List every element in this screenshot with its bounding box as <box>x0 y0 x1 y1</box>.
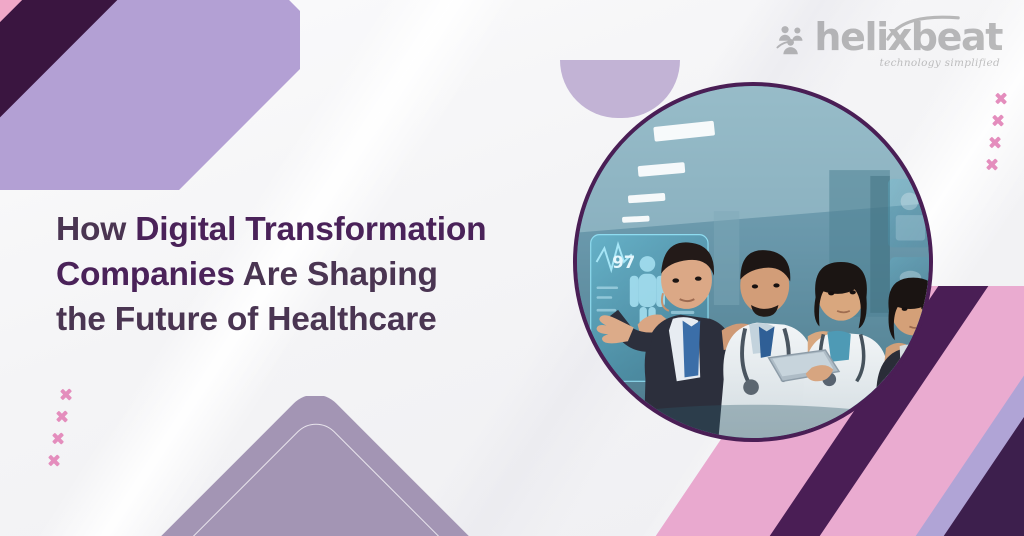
x-accent-icon <box>992 114 1005 127</box>
page-title: How Digital Transformation Companies Are… <box>56 208 576 342</box>
x-accent-icon <box>995 92 1008 105</box>
people-group-icon <box>774 22 808 56</box>
x-accent-icon <box>52 432 65 445</box>
headline-normal-1: How <box>56 211 135 248</box>
x-accent-group-left <box>52 388 73 476</box>
headline-line-1: How Digital Transformation <box>56 208 576 253</box>
healthcare-team-illustration: 97 <box>577 86 929 438</box>
brand-logo[interactable]: helixbeat technology simplified <box>774 18 1002 69</box>
headline-line-2: Companies Are Shaping <box>56 253 576 298</box>
x-accent-icon <box>989 136 1002 149</box>
hero-photo: 97 <box>577 86 929 438</box>
x-accent-icon <box>56 410 69 423</box>
banner: helixbeat technology simplified How Digi… <box>0 0 1024 536</box>
headline-bold-2: Companies <box>56 256 235 293</box>
hero-image-circle: 97 <box>573 82 933 442</box>
x-accent-icon <box>986 158 999 171</box>
diamond-outline <box>169 413 463 536</box>
x-accent-icon <box>48 454 61 467</box>
x-accent-icon <box>60 388 73 401</box>
headline-normal-2: Are Shaping <box>235 256 438 293</box>
headline-line-3: the Future of Healthcare <box>56 298 576 343</box>
decorative-diamond-bottom-left <box>150 396 480 536</box>
logo-tagline: technology simplified <box>880 57 1000 69</box>
decorative-corner-top-left <box>0 0 300 190</box>
x-accent-group-right <box>989 92 1008 180</box>
svg-text:97: 97 <box>612 253 635 272</box>
headline-bold-1: Digital Transformation <box>135 211 486 248</box>
swoosh-icon <box>886 15 960 41</box>
